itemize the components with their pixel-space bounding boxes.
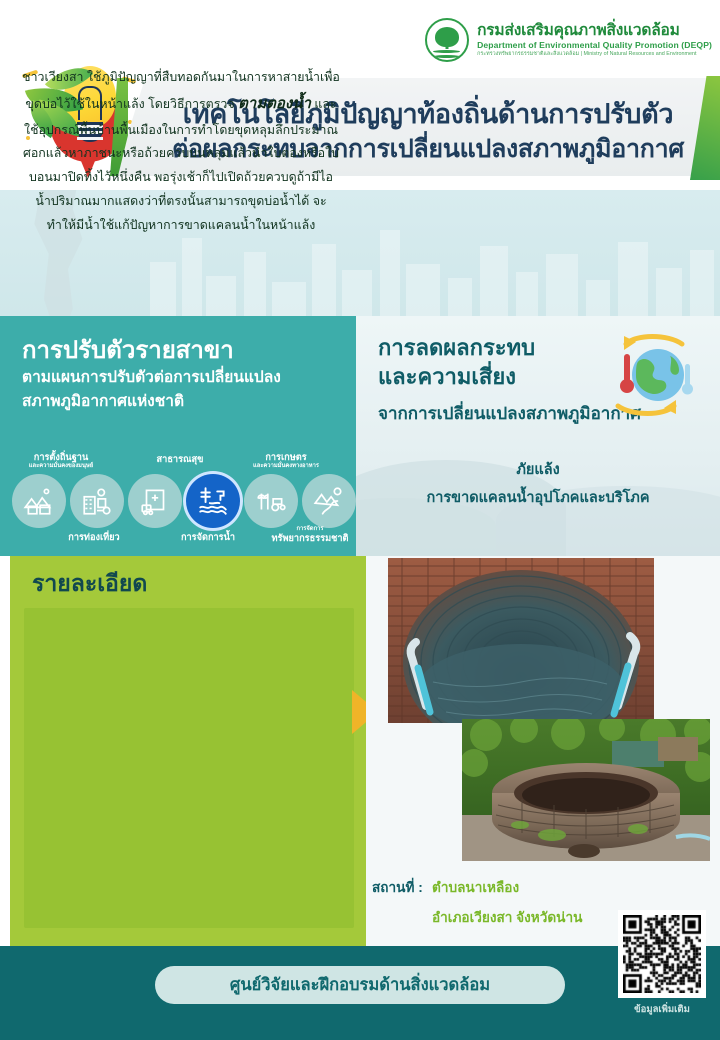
risk-heading-line2: และความเสี่ยง <box>378 364 516 389</box>
risk-heading-line1: การลดผลกระทบ <box>378 335 535 360</box>
sector-icon-public-health[interactable] <box>128 474 182 528</box>
org-ministry-line: กระทรวงทรัพยากรธรรมชาติและสิ่งแวดล้อม | … <box>477 51 712 58</box>
details-panel: รายละเอียด <box>10 556 366 946</box>
sector-icon-settlement[interactable] <box>12 474 66 528</box>
location-value-line1: ตำบลนาเหลือง <box>432 876 519 898</box>
brick-well-exterior-photo <box>462 719 710 861</box>
sectors-subheading-line1: ตามแผนการปรับตัวต่อการเปลี่ยนแปลง <box>22 369 281 386</box>
org-name-english: Department of Environmental Quality Prom… <box>477 40 712 51</box>
sector-label-natural-resources: การจัดการ ทรัพยากรธรรมชาติ <box>262 526 358 543</box>
impact-risk-panel: การลดผลกระทบ และความเสี่ยง จากการเปลี่ยน… <box>356 316 720 556</box>
globe-thermometer-icon <box>602 332 698 418</box>
sector-label-agriculture: การเกษตร และความมั่นคงทางอาหาร <box>230 452 342 469</box>
location-value-line2: อำเภอเวียงสา จังหวัดน่าน <box>432 906 582 928</box>
qr-block: ข้อมูลเพิ่มเติม <box>618 910 706 1022</box>
details-body-text: ชาวเวียงสา ใช้ภูมิปัญญาที่สืบทอดกันมาในก… <box>22 66 340 238</box>
footer-organization-pill: ศูนย์วิจัยและฝึกอบรมด้านสิ่งแวดล้อม <box>155 966 565 1004</box>
qr-code[interactable] <box>618 910 706 998</box>
poster-footer: ศูนย์วิจัยและฝึกอบรมด้านสิ่งแวดล้อม ข้อม… <box>0 946 720 1040</box>
location-label: สถานที่ : <box>372 880 423 895</box>
hazard-name: ภัยแล้ง <box>356 458 720 481</box>
sectors-subheading-line2: สภาพภูมิอากาศแห่งชาติ <box>22 393 184 410</box>
sector-icon-natural-resources[interactable] <box>302 474 356 528</box>
deqp-logo: กรมส่งเสริมคุณภาพสิ่งแวดล้อม Department … <box>425 18 712 62</box>
details-body-part2: และใช้อุปกรณ์พื้นบ้านพื้นเมืองในการทำโดย… <box>23 97 339 232</box>
sectors-subheading: ตามแผนการปรับตัวต่อการเปลี่ยนแปลง สภาพภู… <box>22 366 342 414</box>
sector-label-water-management: การจัดการน้ำ <box>160 532 256 543</box>
location-block: สถานที่ : <box>372 876 423 898</box>
brick-well-interior-photo <box>388 558 654 723</box>
org-name-thai: กรมส่งเสริมคุณภาพสิ่งแวดล้อม <box>477 22 712 40</box>
sector-label-settlement: การตั้งถิ่นฐาน และความมั่นคงของมนุษย์ <box>6 452 116 469</box>
hazard-detail: การขาดแคลนน้ำอุปโภคและบริโภค <box>356 486 720 509</box>
sector-icon-tourism[interactable] <box>70 474 124 528</box>
deqp-seal-icon <box>425 18 469 62</box>
details-heading: รายละเอียด <box>32 566 147 602</box>
sector-icon-water-management[interactable] <box>186 474 240 528</box>
footer-organization-label: ศูนย์วิจัยและฝึกอบรมด้านสิ่งแวดล้อม <box>230 972 490 998</box>
sector-label-tourism: การท่องเที่ยว <box>48 532 140 543</box>
qr-caption: ข้อมูลเพิ่มเติม <box>618 1002 706 1017</box>
sector-icon-agriculture[interactable] <box>244 474 298 528</box>
sector-label-public-health: สาธารณสุข <box>134 454 226 465</box>
sectors-heading: การปรับตัวรายสาขา <box>22 330 234 369</box>
details-body-highlight: ตามตองน้ำ <box>238 95 311 112</box>
details-text-backdrop <box>24 608 354 928</box>
risk-heading: การลดผลกระทบ และความเสี่ยง <box>378 334 535 391</box>
